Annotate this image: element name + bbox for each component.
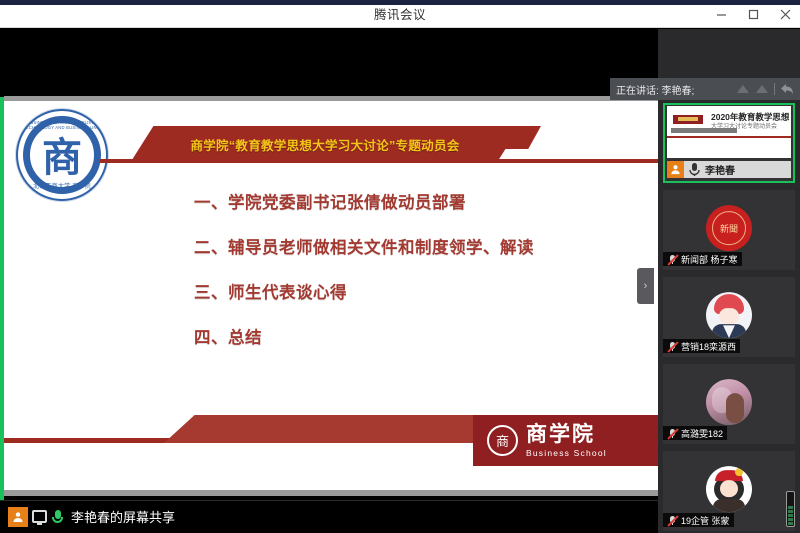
business-school-name-en: Business School: [526, 448, 607, 458]
business-school-logo: 商 商学院 Business School: [473, 415, 658, 466]
participant-name-bar-1: 李艳春: [667, 161, 791, 178]
slide-content: BUSINESS SCHOOL OF BEIJING TECHNOLOGY AN…: [4, 101, 658, 490]
active-speaker-bar: 正在讲话: 李艳春;: [610, 78, 800, 100]
footer-red-slab: [164, 415, 504, 443]
window-controls: [712, 0, 794, 28]
participant-tile-2[interactable]: 新聞 新闻部 杨子寒: [663, 190, 795, 270]
agenda-item-3: 三、师生代表谈心得: [194, 279, 634, 303]
collapse-panel-button[interactable]: ›: [637, 268, 654, 304]
participant-tile-1[interactable]: 2020年教育教学思想 大学习大讨论专题动员会 李艳春: [663, 103, 795, 183]
person-icon-small: [667, 161, 684, 178]
participant-tile-3[interactable]: 营销18栾源西: [663, 277, 795, 357]
chevron-up-icon[interactable]: [736, 83, 750, 95]
speaker-bar-icons: [736, 83, 794, 95]
microphone-icon-small: [688, 162, 701, 177]
slide-footer-band: 商 商学院 Business School: [4, 400, 658, 490]
screen-share-icon: [32, 510, 47, 523]
preview-gray-bar: [671, 128, 737, 133]
business-school-seal-icon: 商: [487, 425, 518, 456]
active-speaker-label: 正在讲话: 李艳春;: [616, 82, 694, 97]
university-logo-arc-bottom: 北京工商大学 商学院: [18, 181, 106, 190]
participant-name-4: 高潞雯182: [681, 427, 723, 440]
close-icon[interactable]: [776, 5, 794, 23]
preview-logo-tag: [673, 115, 703, 124]
maximize-icon[interactable]: [744, 5, 762, 23]
chevron-up-icon-2[interactable]: [755, 83, 769, 95]
window-title: 腾讯会议: [374, 4, 426, 23]
slide-agenda-list: 一、学院党委副书记张倩做动员部署 二、辅导员老师做相关文件和制度领学、解读 三、…: [194, 189, 634, 369]
participant-name-bar-5: 19企管 张蒙: [663, 513, 734, 527]
agenda-item-2: 二、辅导员老师做相关文件和制度领学、解读: [194, 234, 634, 258]
participant-name-bar-2: 新闻部 杨子寒: [663, 252, 742, 266]
participant-name-2: 新闻部 杨子寒: [681, 253, 738, 266]
window-title-bar: 腾讯会议: [0, 0, 800, 28]
volume-meter: [786, 491, 795, 527]
participant-tile-4[interactable]: 高潞雯182: [663, 364, 795, 444]
minimize-icon[interactable]: [712, 5, 730, 23]
avatar: [706, 292, 752, 338]
agenda-item-1: 一、学院党委副书记张倩做动员部署: [194, 189, 634, 213]
slide-bottom-edge: [4, 490, 658, 496]
university-logo-icon: BUSINESS SCHOOL OF BEIJING TECHNOLOGY AN…: [16, 109, 108, 201]
presentation-slide[interactable]: BUSINESS SCHOOL OF BEIJING TECHNOLOGY AN…: [4, 96, 658, 496]
icon-divider: [774, 83, 775, 95]
participant-name-5: 19企管 张蒙: [681, 514, 730, 527]
mic-muted-icon: [667, 254, 678, 265]
screen-share-status-bar: 李艳春的屏幕共享: [0, 500, 658, 533]
slide-title-ribbon: 商学院“教育教学思想大学习大讨论”专题动员会: [100, 126, 540, 163]
participant-screen-preview: 2020年教育教学思想 大学习大讨论专题动员会: [667, 106, 791, 158]
return-arrow-icon[interactable]: [780, 83, 794, 95]
mic-muted-icon: [667, 428, 678, 439]
mic-muted-icon: [667, 515, 678, 526]
participant-name-3: 营销18栾源西: [681, 340, 736, 353]
participant-name-bar-3: 营销18栾源西: [663, 339, 740, 353]
person-icon: [8, 507, 28, 527]
microphone-icon: [51, 509, 64, 525]
university-logo-glyph: 商: [18, 125, 106, 183]
participant-tile-5[interactable]: 19企管 张蒙: [663, 451, 795, 531]
avatar: [706, 379, 752, 425]
avatar: [706, 466, 752, 512]
agenda-item-4: 四、总结: [194, 324, 634, 348]
shared-screen-stage[interactable]: BUSINESS SCHOOL OF BEIJING TECHNOLOGY AN…: [0, 29, 658, 533]
title-bar-accent-strip: [0, 0, 800, 5]
participant-name-bar-4: 高潞雯182: [663, 426, 727, 440]
slide-title: 商学院“教育教学思想大学习大讨论”专题动员会: [130, 126, 520, 163]
mic-muted-icon: [667, 341, 678, 352]
business-school-name-cn: 商学院: [526, 424, 607, 445]
preview-red-line: [667, 136, 791, 138]
participant-thumbnail-list[interactable]: 2020年教育教学思想 大学习大讨论专题动员会 李艳春 新聞: [658, 103, 800, 533]
tencent-meeting-window: 腾讯会议 BUSINESS SCHOOL OF BEIJING TECHNOLO…: [0, 0, 800, 533]
participant-panel: 正在讲话: 李艳春; 2020年教育教学思想 大学习大讨论专题动员会: [658, 29, 800, 533]
screen-share-owner-label: 李艳春的屏幕共享: [71, 507, 175, 526]
avatar: 新聞: [706, 205, 752, 251]
participant-name-1: 李艳春: [705, 162, 735, 177]
